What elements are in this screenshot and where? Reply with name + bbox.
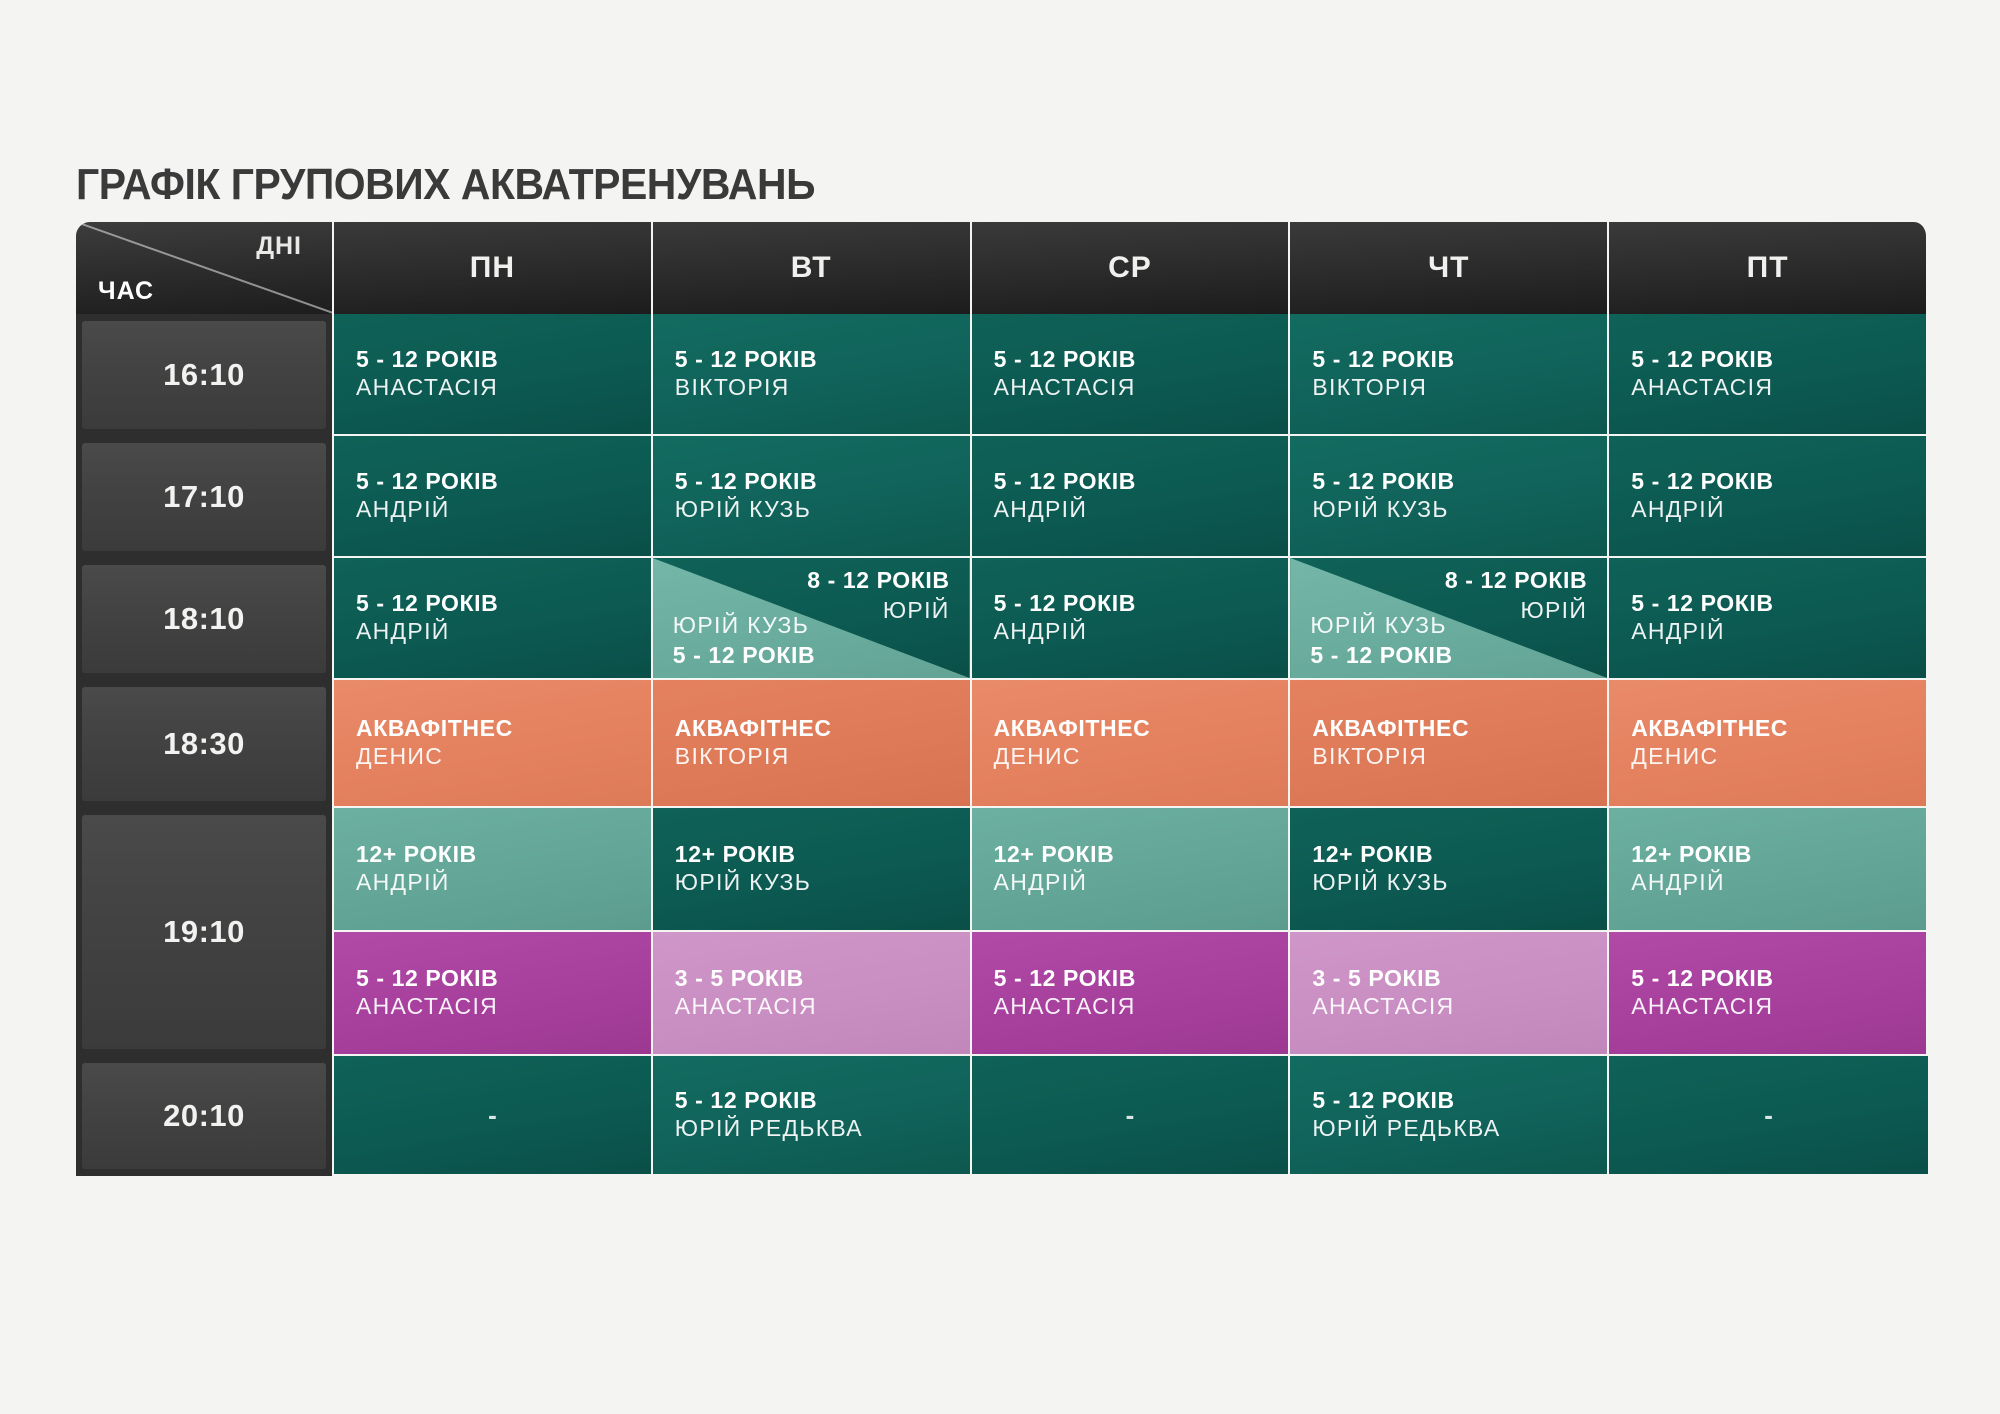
- session-age: АКВАФІТНЕС: [1312, 714, 1585, 743]
- session-coach: АНАСТАСІЯ: [994, 373, 1267, 403]
- session-coach: АНАСТАСІЯ: [1312, 992, 1585, 1022]
- corner-header-cell: ДНІ ЧАС: [76, 222, 334, 314]
- split-lower-session: ЮРІЙ КУЗЬ 5 - 12 РОКІВ: [673, 611, 815, 671]
- session-cell-split[interactable]: 8 - 12 РОКІВ ЮРІЙ ЮРІЙ КУЗЬ 5 - 12 РОКІВ: [653, 558, 972, 680]
- time-label-2010: 20:10: [76, 1056, 334, 1176]
- session-cell-empty[interactable]: -: [334, 1056, 653, 1176]
- session-age: 5 - 12 РОКІВ: [673, 641, 815, 671]
- session-age: 5 - 12 РОКІВ: [994, 345, 1267, 374]
- session-coach: АНАСТАСІЯ: [356, 992, 629, 1022]
- session-coach: АНДРІЙ: [1631, 617, 1904, 647]
- day-header-wed: СР: [972, 222, 1291, 314]
- session-coach: ЮРІЙ РЕДЬКВА: [675, 1114, 948, 1144]
- session-cell[interactable]: 3 - 5 РОКІВ АНАСТАСІЯ: [653, 932, 972, 1056]
- time-label-1610: 16:10: [76, 314, 334, 436]
- session-cell-empty[interactable]: -: [1609, 1056, 1928, 1176]
- session-age: 5 - 12 РОКІВ: [1312, 467, 1585, 496]
- session-cell[interactable]: 5 - 12 РОКІВ АНДРІЙ: [334, 436, 653, 558]
- session-cell-empty[interactable]: -: [972, 1056, 1291, 1176]
- session-cell[interactable]: 5 - 12 РОКІВ АНАСТАСІЯ: [334, 932, 653, 1056]
- time-label-1710: 17:10: [76, 436, 334, 558]
- session-age: 5 - 12 РОКІВ: [994, 589, 1267, 618]
- session-coach: АНДРІЙ: [1631, 868, 1904, 898]
- session-coach: ЮРІЙ РЕДЬКВА: [1312, 1114, 1585, 1144]
- session-cell[interactable]: 12+ РОКІВ АНДРІЙ: [334, 808, 653, 932]
- session-age: 5 - 12 РОКІВ: [356, 467, 629, 496]
- session-cell[interactable]: 3 - 5 РОКІВ АНАСТАСІЯ: [1290, 932, 1609, 1056]
- empty-dash: -: [1764, 1100, 1773, 1131]
- session-age: 5 - 12 РОКІВ: [1631, 589, 1904, 618]
- session-cell[interactable]: 5 - 12 РОКІВ АНАСТАСІЯ: [334, 314, 653, 436]
- session-age: 5 - 12 РОКІВ: [675, 1086, 948, 1115]
- session-coach: ЮРІЙ КУЗЬ: [1310, 611, 1452, 641]
- session-coach: ДЕНИС: [1631, 742, 1904, 772]
- session-cell[interactable]: 12+ РОКІВ АНДРІЙ: [972, 808, 1291, 932]
- session-coach: ВІКТОРІЯ: [1312, 742, 1585, 772]
- session-cell[interactable]: 5 - 12 РОКІВ АНАСТАСІЯ: [972, 932, 1291, 1056]
- session-age: 5 - 12 РОКІВ: [675, 345, 948, 374]
- session-coach: ЮРІЙ КУЗЬ: [1312, 868, 1585, 898]
- time-text: 19:10: [163, 914, 245, 950]
- session-cell[interactable]: 12+ РОКІВ ЮРІЙ КУЗЬ: [1290, 808, 1609, 932]
- session-cell[interactable]: 5 - 12 РОКІВ ЮРІЙ КУЗЬ: [653, 436, 972, 558]
- time-text: 18:30: [163, 726, 245, 762]
- session-coach: АНДРІЙ: [994, 617, 1267, 647]
- session-cell[interactable]: АКВАФІТНЕС ДЕНИС: [972, 680, 1291, 808]
- session-coach: АНДРІЙ: [1631, 495, 1904, 525]
- session-age: 5 - 12 РОКІВ: [1312, 1086, 1585, 1115]
- session-age: 5 - 12 РОКІВ: [1631, 467, 1904, 496]
- session-coach: ЮРІЙ КУЗЬ: [1312, 495, 1585, 525]
- session-coach: ЮРІЙ КУЗЬ: [673, 611, 815, 641]
- day-header-fri: ПТ: [1609, 222, 1928, 314]
- time-text: 17:10: [163, 479, 245, 515]
- session-cell[interactable]: 12+ РОКІВ АНДРІЙ: [1609, 808, 1928, 932]
- session-age: 5 - 12 РОКІВ: [1310, 641, 1452, 671]
- session-cell[interactable]: 5 - 12 РОКІВ АНДРІЙ: [1609, 558, 1928, 680]
- session-age: АКВАФІТНЕС: [1631, 714, 1904, 743]
- day-header-mon: ПН: [334, 222, 653, 314]
- corner-time-label: ЧАС: [98, 277, 154, 306]
- session-age: 12+ РОКІВ: [356, 840, 629, 869]
- time-label-1830: 18:30: [76, 680, 334, 808]
- session-cell[interactable]: 5 - 12 РОКІВ ВІКТОРІЯ: [1290, 314, 1609, 436]
- session-coach: АНАСТАСІЯ: [675, 992, 948, 1022]
- session-age: 5 - 12 РОКІВ: [356, 345, 629, 374]
- session-coach: ВІКТОРІЯ: [675, 373, 948, 403]
- schedule-page: ГРАФІК ГРУПОВИХ АКВАТРЕНУВАНЬ ДНІ ЧАС ПН…: [0, 0, 2000, 1414]
- session-cell[interactable]: 5 - 12 РОКІВ АНДРІЙ: [972, 436, 1291, 558]
- session-coach: ДЕНИС: [994, 742, 1267, 772]
- session-coach: АНДРІЙ: [994, 495, 1267, 525]
- session-age: 5 - 12 РОКІВ: [675, 467, 948, 496]
- session-coach: ЮРІЙ КУЗЬ: [675, 868, 948, 898]
- session-age: 5 - 12 РОКІВ: [994, 467, 1267, 496]
- session-coach: АНДРІЙ: [356, 617, 629, 647]
- session-coach: АНДРІЙ: [356, 868, 629, 898]
- session-cell[interactable]: АКВАФІТНЕС ДЕНИС: [1609, 680, 1928, 808]
- session-cell[interactable]: 5 - 12 РОКІВ ВІКТОРІЯ: [653, 314, 972, 436]
- session-cell[interactable]: 5 - 12 РОКІВ АНАСТАСІЯ: [972, 314, 1291, 436]
- session-age: АКВАФІТНЕС: [675, 714, 948, 743]
- session-cell[interactable]: 5 - 12 РОКІВ АНАСТАСІЯ: [1609, 314, 1928, 436]
- session-age: 12+ РОКІВ: [675, 840, 948, 869]
- session-age: 3 - 5 РОКІВ: [1312, 964, 1585, 993]
- session-age: 5 - 12 РОКІВ: [1312, 345, 1585, 374]
- page-title: ГРАФІК ГРУПОВИХ АКВАТРЕНУВАНЬ: [76, 160, 815, 210]
- session-coach: АНАСТАСІЯ: [994, 992, 1267, 1022]
- session-coach: ЮРІЙ: [1445, 596, 1587, 626]
- session-cell[interactable]: 5 - 12 РОКІВ ЮРІЙ РЕДЬКВА: [1290, 1056, 1609, 1176]
- session-cell[interactable]: АКВАФІТНЕС ВІКТОРІЯ: [653, 680, 972, 808]
- session-coach: АНДРІЙ: [356, 495, 629, 525]
- session-cell[interactable]: 5 - 12 РОКІВ ЮРІЙ КУЗЬ: [1290, 436, 1609, 558]
- session-coach: АНАСТАСІЯ: [1631, 992, 1904, 1022]
- session-age: 12+ РОКІВ: [1312, 840, 1585, 869]
- day-header-thu: ЧТ: [1290, 222, 1609, 314]
- session-age: 5 - 12 РОКІВ: [356, 589, 629, 618]
- split-lower-session: ЮРІЙ КУЗЬ 5 - 12 РОКІВ: [1310, 611, 1452, 671]
- day-header-tue: ВТ: [653, 222, 972, 314]
- session-coach: ДЕНИС: [356, 742, 629, 772]
- session-coach: ВІКТОРІЯ: [675, 742, 948, 772]
- session-cell[interactable]: АКВАФІТНЕС ДЕНИС: [334, 680, 653, 808]
- session-cell-split[interactable]: 8 - 12 РОКІВ ЮРІЙ ЮРІЙ КУЗЬ 5 - 12 РОКІВ: [1290, 558, 1609, 680]
- session-coach: АНДРІЙ: [994, 868, 1267, 898]
- time-text: 16:10: [163, 357, 245, 393]
- empty-dash: -: [1126, 1100, 1135, 1131]
- session-coach: АНАСТАСІЯ: [356, 373, 629, 403]
- session-cell[interactable]: 5 - 12 РОКІВ АНДРІЙ: [972, 558, 1291, 680]
- session-age: 8 - 12 РОКІВ: [807, 566, 949, 596]
- schedule-table: ДНІ ЧАС ПН ВТ СР ЧТ ПТ 16:10 5 - 12 РОКІ…: [76, 222, 1928, 1188]
- session-coach: ЮРІЙ: [807, 596, 949, 626]
- time-label-1910: 19:10: [76, 808, 334, 1056]
- session-age: АКВАФІТНЕС: [356, 714, 629, 743]
- split-upper-session: 8 - 12 РОКІВ ЮРІЙ: [1445, 566, 1587, 626]
- session-age: АКВАФІТНЕС: [994, 714, 1267, 743]
- session-cell[interactable]: 5 - 12 РОКІВ АНДРІЙ: [1609, 436, 1928, 558]
- session-coach: ВІКТОРІЯ: [1312, 373, 1585, 403]
- session-cell[interactable]: 5 - 12 РОКІВ ЮРІЙ РЕДЬКВА: [653, 1056, 972, 1176]
- schedule-grid: ДНІ ЧАС ПН ВТ СР ЧТ ПТ 16:10 5 - 12 РОКІ…: [76, 222, 1928, 1188]
- time-text: 20:10: [163, 1098, 245, 1134]
- empty-dash: -: [488, 1100, 497, 1131]
- session-age: 5 - 12 РОКІВ: [994, 964, 1267, 993]
- session-age: 12+ РОКІВ: [994, 840, 1267, 869]
- session-age: 5 - 12 РОКІВ: [1631, 345, 1904, 374]
- session-age: 5 - 12 РОКІВ: [356, 964, 629, 993]
- session-cell[interactable]: 5 - 12 РОКІВ АНАСТАСІЯ: [1609, 932, 1928, 1056]
- session-age: 5 - 12 РОКІВ: [1631, 964, 1904, 993]
- split-upper-session: 8 - 12 РОКІВ ЮРІЙ: [807, 566, 949, 626]
- session-age: 3 - 5 РОКІВ: [675, 964, 948, 993]
- session-cell[interactable]: АКВАФІТНЕС ВІКТОРІЯ: [1290, 680, 1609, 808]
- session-coach: АНАСТАСІЯ: [1631, 373, 1904, 403]
- time-text: 18:10: [163, 601, 245, 637]
- session-coach: ЮРІЙ КУЗЬ: [675, 495, 948, 525]
- session-age: 12+ РОКІВ: [1631, 840, 1904, 869]
- corner-days-label: ДНІ: [256, 232, 302, 261]
- session-cell[interactable]: 12+ РОКІВ ЮРІЙ КУЗЬ: [653, 808, 972, 932]
- time-label-1810: 18:10: [76, 558, 334, 680]
- session-cell[interactable]: 5 - 12 РОКІВ АНДРІЙ: [334, 558, 653, 680]
- session-age: 8 - 12 РОКІВ: [1445, 566, 1587, 596]
